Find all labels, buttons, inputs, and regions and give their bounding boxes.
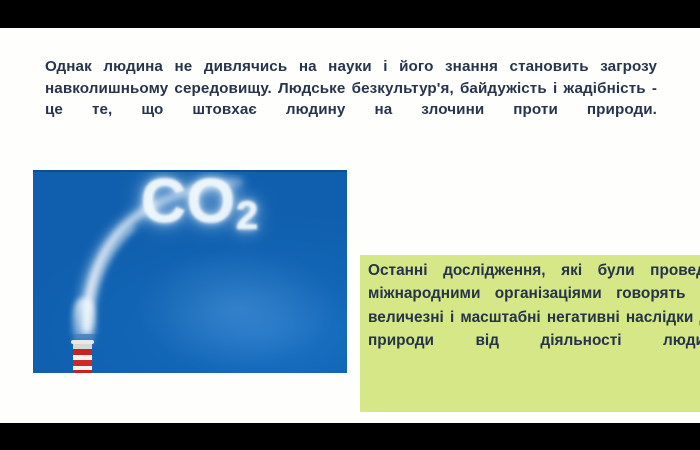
chimney-icon: [71, 340, 94, 373]
intro-paragraph: Однак людина не дивлячись на науки і йог…: [45, 56, 657, 142]
co2-smoke-lettering: CO2: [141, 170, 341, 256]
callout-paragraph: Останні дослідження, які були проведені …: [368, 259, 700, 376]
callout-box: Останні дослідження, які були проведені …: [360, 255, 700, 412]
video-frame: Однак людина не дивлячись на науки і йог…: [0, 0, 700, 450]
chimney-band: [73, 370, 92, 373]
co2-photo: CO2: [33, 170, 347, 373]
letterbox-bar-top: [0, 0, 700, 28]
letterbox-bar-bottom: [0, 423, 700, 450]
co2-subscript: 2: [236, 194, 259, 238]
stack-smoke: [73, 298, 95, 346]
co2-letters: CO: [141, 170, 236, 236]
slide-canvas: Однак людина не дивлячись на науки і йог…: [0, 28, 700, 423]
